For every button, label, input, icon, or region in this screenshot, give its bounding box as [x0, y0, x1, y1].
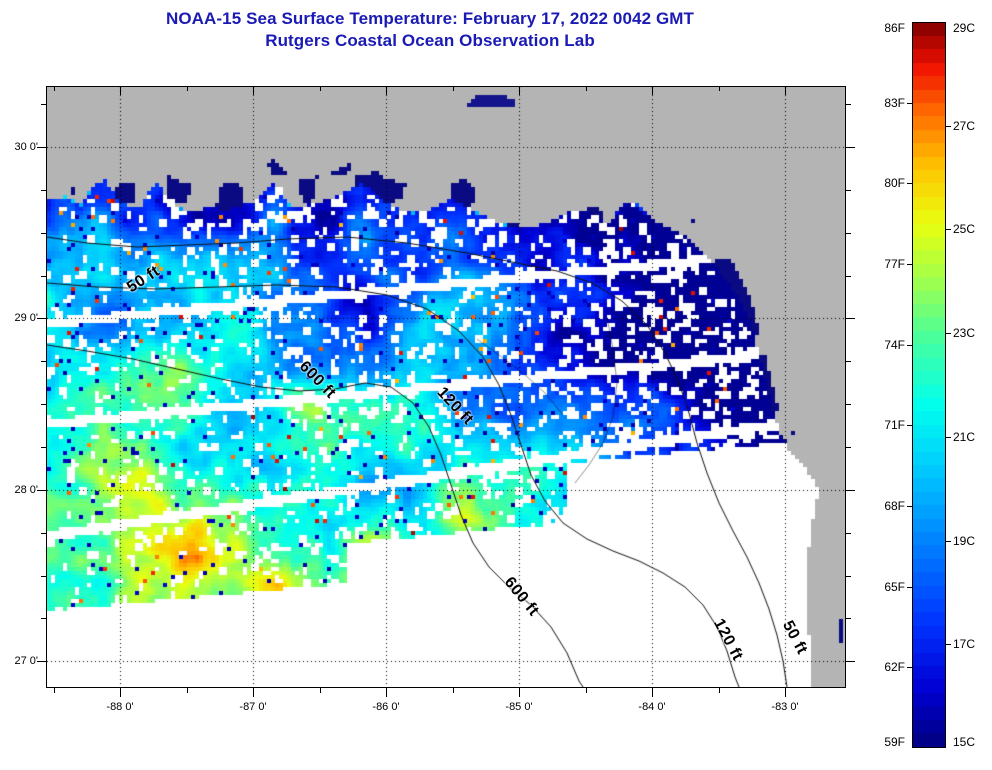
y-tick-major-right	[846, 147, 855, 148]
y-tick-minor-right	[846, 404, 851, 405]
x-tick-major-top	[386, 86, 387, 95]
x-axis-label: -85 0'	[505, 701, 532, 713]
x-tick-minor-top	[320, 86, 321, 91]
y-tick-minor	[41, 533, 46, 534]
y-tick-minor-right	[846, 233, 851, 234]
y-tick-minor-right	[846, 104, 851, 105]
y-tick-major-right	[846, 318, 855, 319]
colorbar-label-celsius: 27C	[953, 119, 975, 133]
x-tick-minor	[54, 688, 55, 693]
colorbar-label-fahrenheit: 77F	[884, 257, 905, 271]
y-tick-major	[37, 318, 46, 319]
y-tick-minor-right	[846, 618, 851, 619]
colorbar-tick-left	[907, 264, 912, 265]
colorbar-tick-left	[907, 425, 912, 426]
y-tick-minor	[41, 190, 46, 191]
x-tick-major-top	[253, 86, 254, 95]
y-axis-label: 28 0'	[0, 484, 38, 496]
y-axis-label: 30 0'	[0, 141, 38, 153]
colorbar-tick-left	[907, 667, 912, 668]
colorbar-tick-left	[907, 587, 912, 588]
x-tick-major	[120, 688, 121, 697]
y-tick-major-right	[846, 661, 855, 662]
y-tick-minor-right	[846, 361, 851, 362]
page-subtitle: Rutgers Coastal Ocean Observation Lab	[0, 30, 860, 52]
y-tick-minor-right	[846, 576, 851, 577]
x-tick-major	[785, 688, 786, 697]
x-tick-major	[253, 688, 254, 697]
y-tick-minor	[41, 576, 46, 577]
temperature-colorbar[interactable]: 86F83F80F77F74F71F68F65F62F59F29C27C25C2…	[912, 22, 946, 748]
x-axis-label: -87 0'	[239, 701, 266, 713]
y-tick-minor	[41, 361, 46, 362]
x-tick-minor-top	[453, 86, 454, 91]
x-tick-minor	[187, 688, 188, 693]
colorbar-label-celsius: 29C	[953, 21, 975, 35]
y-tick-major-right	[846, 490, 855, 491]
y-tick-minor-right	[846, 276, 851, 277]
y-tick-minor-right	[846, 533, 851, 534]
x-axis-label: -84 0'	[638, 701, 665, 713]
colorbar-gradient	[912, 22, 946, 748]
colorbar-tick-left	[907, 345, 912, 346]
y-tick-minor	[41, 618, 46, 619]
colorbar-label-fahrenheit: 83F	[884, 96, 905, 110]
x-axis-label: -83 0'	[771, 701, 798, 713]
y-tick-minor	[41, 233, 46, 234]
colorbar-tick-right	[946, 437, 951, 438]
x-tick-major	[652, 688, 653, 697]
x-axis-label: -86 0'	[372, 701, 399, 713]
colorbar-label-celsius: 23C	[953, 326, 975, 340]
colorbar-label-celsius: 25C	[953, 222, 975, 236]
x-tick-minor	[320, 688, 321, 693]
x-tick-major	[386, 688, 387, 697]
y-axis-label: 27 0'	[0, 655, 38, 667]
colorbar-canvas	[913, 23, 945, 747]
y-axis-label: 29 0'	[0, 312, 38, 324]
x-tick-major-top	[652, 86, 653, 95]
x-tick-major-top	[519, 86, 520, 95]
colorbar-tick-left	[907, 103, 912, 104]
y-tick-minor-right	[846, 190, 851, 191]
colorbar-label-celsius: 19C	[953, 534, 975, 548]
colorbar-label-celsius: 21C	[953, 430, 975, 444]
colorbar-tick-left	[907, 506, 912, 507]
y-tick-minor	[41, 447, 46, 448]
colorbar-label-fahrenheit: 59F	[884, 735, 905, 749]
y-tick-minor	[41, 276, 46, 277]
colorbar-tick-right	[946, 126, 951, 127]
y-tick-minor	[41, 104, 46, 105]
x-tick-major	[519, 688, 520, 697]
colorbar-label-fahrenheit: 68F	[884, 499, 905, 513]
x-axis-label: -88 0'	[106, 701, 133, 713]
colorbar-label-fahrenheit: 62F	[884, 660, 905, 674]
y-tick-major	[37, 147, 46, 148]
y-tick-major	[37, 661, 46, 662]
x-tick-minor	[453, 688, 454, 693]
x-tick-minor-top	[719, 86, 720, 91]
x-tick-minor-top	[54, 86, 55, 91]
y-tick-major	[37, 490, 46, 491]
page-title: NOAA-15 Sea Surface Temperature: Februar…	[0, 8, 860, 30]
x-tick-minor	[719, 688, 720, 693]
colorbar-tick-right	[946, 333, 951, 334]
colorbar-tick-right	[946, 644, 951, 645]
x-tick-major-top	[785, 86, 786, 95]
y-tick-minor	[41, 404, 46, 405]
x-tick-minor	[586, 688, 587, 693]
x-tick-major-top	[120, 86, 121, 95]
colorbar-tick-right	[946, 541, 951, 542]
chart-title-block: NOAA-15 Sea Surface Temperature: Februar…	[0, 8, 860, 52]
colorbar-label-celsius: 17C	[953, 637, 975, 651]
colorbar-label-fahrenheit: 86F	[884, 21, 905, 35]
colorbar-label-fahrenheit: 74F	[884, 338, 905, 352]
colorbar-label-celsius: 15C	[953, 735, 975, 749]
colorbar-tick-left	[907, 183, 912, 184]
y-tick-minor-right	[846, 447, 851, 448]
colorbar-label-fahrenheit: 65F	[884, 580, 905, 594]
x-tick-minor-top	[187, 86, 188, 91]
colorbar-label-fahrenheit: 71F	[884, 418, 905, 432]
colorbar-tick-right	[946, 229, 951, 230]
x-tick-minor-top	[586, 86, 587, 91]
colorbar-label-fahrenheit: 80F	[884, 176, 905, 190]
